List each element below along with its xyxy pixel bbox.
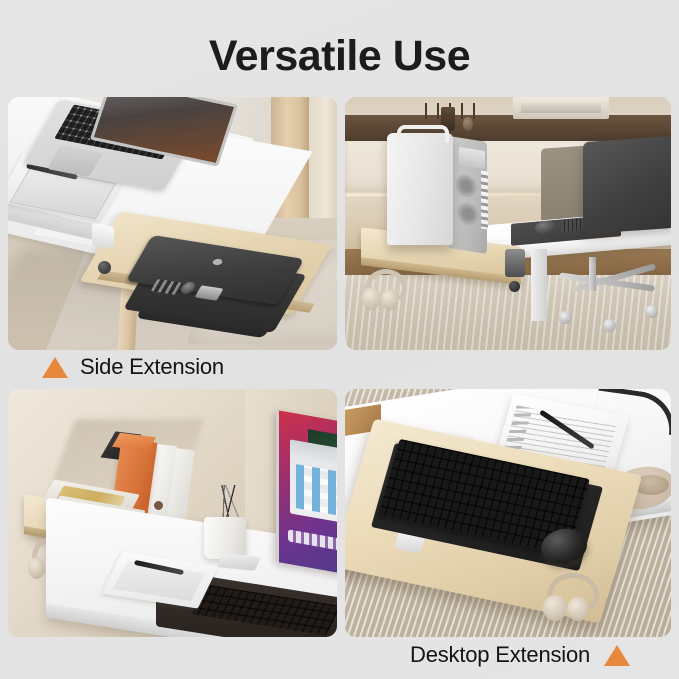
- scene-side-extension-organizers: [8, 389, 337, 637]
- scene-side-extension-pc-tower: [345, 97, 671, 350]
- caption-desktop-extension: Desktop Extension: [410, 642, 630, 668]
- clamp: [505, 249, 525, 277]
- headphones: [543, 573, 593, 621]
- scene-side-extension-printer: [8, 97, 337, 350]
- scene-desktop-extension-keyboard-tray: [345, 389, 671, 637]
- shelf-decor: [463, 117, 473, 131]
- monitor: [583, 136, 671, 234]
- headphones: [363, 269, 401, 311]
- caption-desktop-extension-label: Desktop Extension: [410, 642, 590, 668]
- product-feature-image: Versatile Use: [0, 0, 679, 679]
- panel-bottom-left[interactable]: [8, 389, 337, 637]
- chair-wheel: [645, 305, 658, 318]
- chair-post: [589, 257, 596, 291]
- clamp-knob: [509, 281, 520, 292]
- magazine-file-hole: [154, 501, 163, 510]
- panel-top-right[interactable]: [345, 97, 671, 350]
- pc-tower-handle: [397, 125, 449, 143]
- clamp-knob: [98, 261, 111, 274]
- panel-top-left[interactable]: [8, 97, 337, 350]
- caption-side-extension: Side Extension: [42, 354, 224, 380]
- chair-wheel: [603, 319, 616, 332]
- page-title: Versatile Use: [0, 30, 679, 82]
- chair-wheel: [559, 311, 572, 324]
- pc-tower: [387, 133, 453, 245]
- pc-tower-ports: [481, 170, 488, 229]
- triangle-up-icon: [42, 357, 68, 378]
- shelf-books-stack: [521, 103, 601, 113]
- triangle-up-icon: [604, 645, 630, 666]
- clamp: [92, 223, 114, 249]
- desk-leg: [531, 249, 547, 321]
- caption-side-extension-label: Side Extension: [80, 354, 224, 380]
- panel-bottom-right[interactable]: [345, 389, 671, 637]
